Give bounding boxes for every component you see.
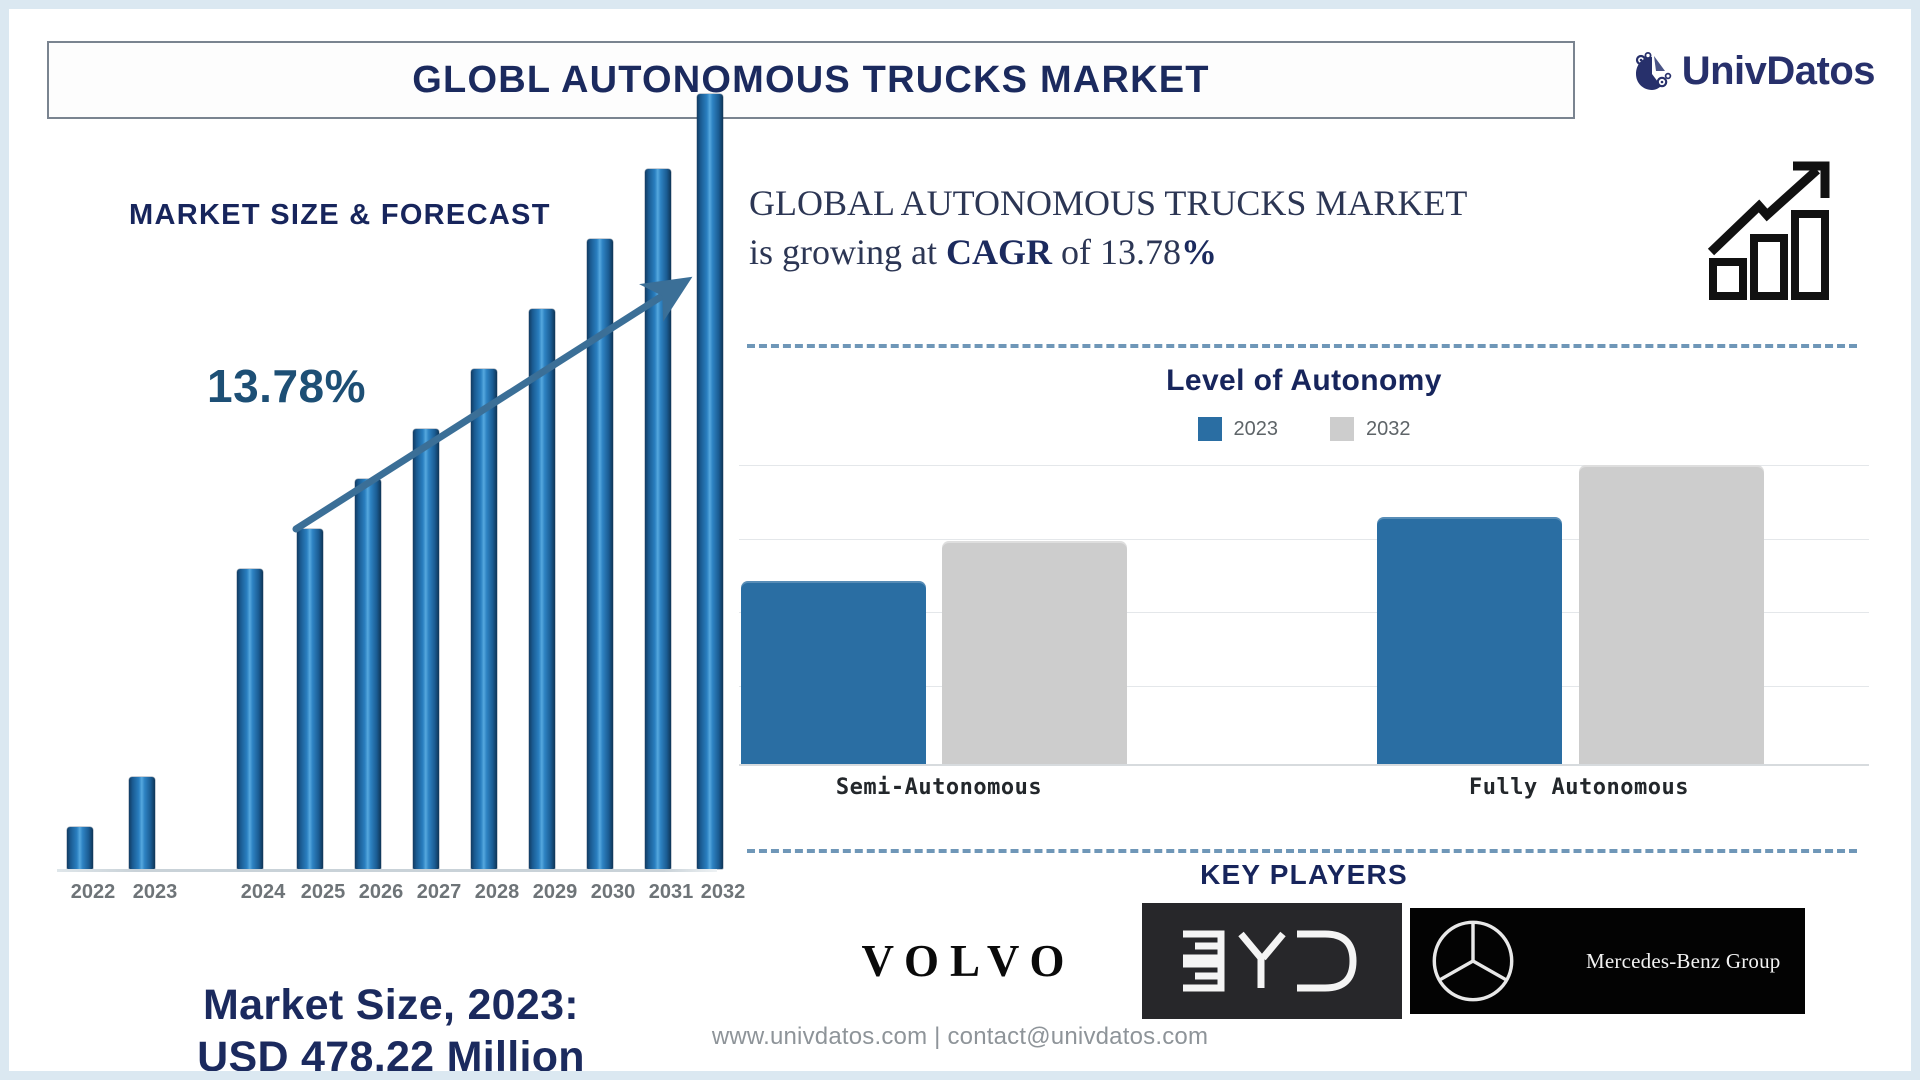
legend-label: 2032 — [1366, 418, 1411, 441]
byd-logo — [1142, 903, 1402, 1019]
trend-x-label: 2022 — [63, 881, 123, 904]
autonomy-chart-plot — [739, 459, 1869, 764]
trend-x-label: 2025 — [293, 881, 353, 904]
page-title: GLOBL AUTONOMOUS TRUCKS MARKET — [412, 59, 1209, 102]
trend-bar — [413, 429, 439, 869]
trend-arrow-icon — [57, 269, 717, 869]
left-panel: MARKET SIZE & FORECAST — [39, 159, 719, 1029]
trend-bar — [697, 94, 723, 869]
cagr-value: 13.78 — [1100, 232, 1181, 272]
divider-top — [747, 344, 1857, 348]
cagr-statement-line-2: is growing at CAGR of 13.78% — [749, 228, 1599, 277]
cagr-statement-line-1: GLOBAL AUTONOMOUS TRUCKS MARKET — [749, 179, 1599, 228]
cagr-callout-label: 13.78% — [207, 359, 366, 413]
autonomy-bar-semi-2032 — [942, 541, 1127, 764]
cagr-statement-prefix: is growing at — [749, 232, 946, 272]
cagr-keyword: CAGR — [946, 232, 1052, 272]
trend-bar — [471, 369, 497, 869]
trend-bar — [587, 239, 613, 869]
autonomy-bar-semi-2023 — [741, 581, 926, 764]
mercedes-benz-logo: Mercedes-Benz Group — [1410, 908, 1805, 1014]
cagr-statement: GLOBAL AUTONOMOUS TRUCKS MARKET is growi… — [749, 179, 1599, 276]
trend-chart-x-labels: 2022 2023 2024 2025 2026 2027 2028 2029 … — [57, 881, 717, 921]
autonomy-bar-fully-2032 — [1579, 465, 1764, 764]
autonomy-chart-title: Level of Autonomy — [739, 364, 1869, 398]
autonomy-x-label-fully: Fully Autonomous — [1429, 775, 1729, 800]
brand-logo: UnivDatos — [1632, 49, 1875, 94]
trend-bar — [67, 827, 93, 869]
trend-chart-plot: 13.78% — [57, 269, 717, 869]
trend-x-label: 2023 — [125, 881, 185, 904]
infographic-sheet: GLOBL AUTONOMOUS TRUCKS MARKET Uni — [9, 9, 1911, 1071]
trend-bar — [529, 309, 555, 869]
divider-bottom — [747, 849, 1857, 853]
trend-x-label: 2024 — [233, 881, 293, 904]
trend-x-label: 2026 — [351, 881, 411, 904]
trend-bar — [355, 479, 381, 869]
trend-bar — [297, 529, 323, 869]
footer-contact: www.univdatos.com | contact@univdatos.co… — [9, 1023, 1911, 1051]
autonomy-x-label-semi: Semi-Autonomous — [789, 775, 1089, 800]
volvo-logo: VOLVO — [804, 935, 1134, 987]
level-of-autonomy-chart: Semi-Autonomous Fully Autonomous — [739, 459, 1869, 809]
trend-bar — [645, 169, 671, 869]
key-players-logos: VOLVO — [739, 901, 1869, 1021]
legend-swatch-icon — [1198, 417, 1222, 441]
legend-label: 2023 — [1234, 418, 1279, 441]
autonomy-bar-fully-2023 — [1377, 517, 1562, 764]
trend-x-label: 2030 — [583, 881, 643, 904]
cagr-percent-sign: % — [1181, 232, 1217, 272]
trend-chart-axis — [57, 869, 717, 872]
legend-item-2023: 2023 — [1198, 417, 1279, 441]
trend-x-label: 2031 — [641, 881, 701, 904]
market-forecast-chart: 13.78% 2022 2023 2024 2025 2026 2027 202… — [57, 269, 717, 949]
trend-bar — [237, 569, 263, 869]
mercedes-benz-wordmark: Mercedes-Benz Group — [1534, 949, 1785, 974]
legend-swatch-icon — [1330, 417, 1354, 441]
trend-x-label: 2029 — [525, 881, 585, 904]
cagr-statement-mid: of — [1052, 232, 1100, 272]
trend-bar — [129, 777, 155, 869]
header: GLOBL AUTONOMOUS TRUCKS MARKET Uni — [39, 33, 1881, 119]
key-players-title: KEY PLAYERS — [739, 859, 1869, 891]
market-size-forecast-heading: MARKET SIZE & FORECAST — [129, 199, 551, 232]
trend-x-label: 2027 — [409, 881, 469, 904]
univdatos-logo-icon — [1632, 51, 1672, 93]
right-panel: GLOBAL AUTONOMOUS TRUCKS MARKET is growi… — [739, 159, 1869, 1029]
infographic-page: GLOBL AUTONOMOUS TRUCKS MARKET Uni — [0, 0, 1920, 1080]
autonomy-chart-legend: 2023 2032 — [739, 417, 1869, 441]
brand-name: UnivDatos — [1682, 49, 1875, 94]
title-box: GLOBL AUTONOMOUS TRUCKS MARKET — [47, 41, 1575, 119]
legend-item-2032: 2032 — [1330, 417, 1411, 441]
trend-x-label: 2028 — [467, 881, 527, 904]
autonomy-chart-baseline — [739, 764, 1869, 766]
